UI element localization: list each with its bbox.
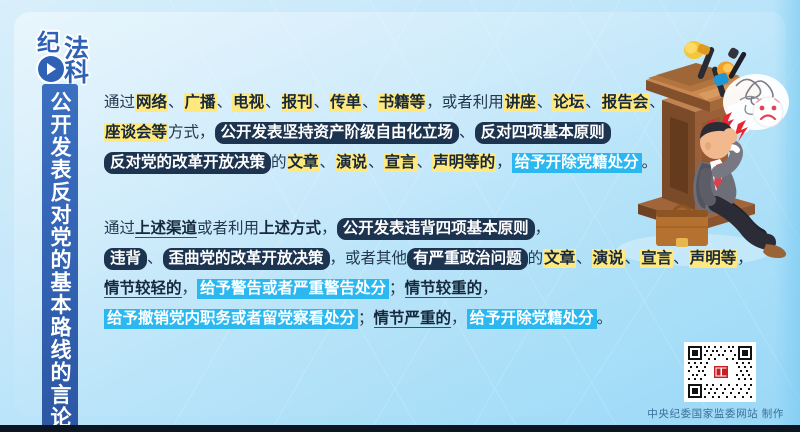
text-segment-plain: 。: [597, 310, 613, 327]
text-segment-plain: ，: [451, 310, 467, 327]
text-segment-underline: 上述渠道: [135, 220, 197, 238]
briefcase-icon: [656, 206, 708, 247]
text-segment-plain: 、: [368, 154, 384, 171]
text-segment-plain: ，: [321, 220, 337, 237]
text-segment-navy: 有严重政治问题: [407, 248, 528, 270]
text-segment-yellow: 宣言: [640, 249, 673, 268]
text-line: 情节较轻的，给予警告或者严重警告处分；情节较重的，: [104, 274, 574, 304]
text-segment-navy: 公开发表坚持资产阶级自由化立场: [215, 122, 460, 144]
text-segment-plain: ；: [389, 280, 405, 297]
text-segment-plain: 、: [585, 94, 601, 111]
text-segment-yellow: 座谈会等: [104, 123, 168, 142]
text-segment-yellow: 电视: [232, 93, 265, 112]
text-segment-navy: 公开发表违背四项基本原则: [337, 218, 535, 240]
paragraph-1: 通过网络、广播、电视、报刊、传单、书籍等，或者利用讲座、论坛、报告会、 座谈会等…: [104, 88, 574, 178]
text-segment-bold: 上述方式: [259, 220, 321, 237]
text-segment-navy: 反对四项基本原则: [475, 122, 611, 144]
text-segment-yellow: 报刊: [281, 93, 314, 112]
text-line: 违背、歪曲党的改革开放决策，或者其他有严重政治问题的文章、演说、宣言、声明等，: [104, 244, 574, 274]
text-segment-plain: 、: [362, 94, 378, 111]
text-segment-cyan: 给予开除党籍处分: [512, 153, 642, 173]
text-segment-plain: ，: [482, 280, 498, 297]
anger-marks-icon: [705, 112, 748, 142]
text-segment-plain: 、: [168, 94, 184, 111]
logo-char-fa: 法: [64, 38, 89, 61]
text-segment-yellow: 书籍等: [378, 93, 427, 112]
text-segment-plain: ，或者利用: [426, 94, 504, 111]
text-segment-yellow: 文章: [287, 153, 320, 172]
text-segment-yellow: 声明等的: [432, 153, 496, 172]
text-line: 反对党的改革开放决策的文章、演说、宣言、声明等的，给予开除党籍处分。: [104, 148, 574, 178]
text-segment-plain: 、: [649, 94, 665, 111]
text-segment-yellow: 演说: [335, 153, 368, 172]
text-segment-cyan: 给予警告或者严重警告处分: [197, 279, 389, 299]
text-segment-plain: ，或者其他: [330, 250, 408, 267]
text-segment-underline: 情节较重的: [405, 280, 483, 298]
text-segment-plain: 通过: [104, 220, 135, 237]
text-segment-plain: 的: [528, 250, 544, 267]
text-segment-plain: 、: [265, 94, 281, 111]
text-line: 座谈会等方式，公开发表坚持资产阶级自由化立场、反对四项基本原则: [104, 118, 574, 148]
brand-logo: 纪 法 科: [36, 30, 92, 86]
text-segment-plain: 的: [271, 154, 287, 171]
text-segment-plain: 、: [459, 124, 475, 141]
text-segment-plain: ，: [496, 154, 512, 171]
text-segment-plain: ，: [535, 220, 551, 237]
text-segment-plain: 、: [537, 94, 553, 111]
text-segment-yellow: 报告会: [601, 93, 650, 112]
text-segment-plain: 、: [625, 250, 641, 267]
text-line: 通过网络、广播、电视、报刊、传单、书籍等，或者利用讲座、论坛、报告会、: [104, 88, 574, 118]
poster-root: 纪 法 科 公开发表反对党的基本路线的言论: [0, 0, 800, 432]
text-segment-yellow: 传单: [329, 93, 362, 112]
vertical-title-text: 公开发表反对党的基本路线的言论: [49, 91, 71, 429]
text-line: 给予撤销党内职务或者留党察看处分；情节严重的，给予开除党籍处分。: [104, 304, 574, 334]
logo-char-ke: 科: [64, 62, 89, 85]
right-edge-shade: [774, 0, 800, 425]
qr-code[interactable]: [684, 342, 756, 402]
text-segment-underline: 情节较轻的: [104, 280, 182, 298]
microphone-icon-1: [684, 41, 715, 80]
text-segment-yellow: 文章: [543, 249, 576, 268]
text-segment-underline: 情节严重的: [374, 310, 452, 328]
text-line: 通过上述渠道或者利用上述方式，公开发表违背四项基本原则，: [104, 214, 574, 244]
text-segment-plain: 、: [673, 250, 689, 267]
logo-char-ji: 纪: [37, 31, 60, 54]
eye-play-icon: [38, 56, 64, 82]
microphone-icon-3: [727, 47, 747, 80]
text-segment-plain: 、: [320, 154, 336, 171]
microphone-icon-2: [711, 62, 735, 99]
regulation-text-content: 通过网络、广播、电视、报刊、传单、书籍等，或者利用讲座、论坛、报告会、 座谈会等…: [104, 88, 574, 334]
distressed-person-icon: [693, 122, 786, 258]
text-segment-yellow: 广播: [184, 93, 217, 112]
text-segment-plain: 、: [576, 250, 592, 267]
text-segment-plain: 、: [314, 94, 330, 111]
paragraph-2: 通过上述渠道或者利用上述方式，公开发表违背四项基本原则， 违背、歪曲党的改革开放…: [104, 214, 574, 334]
text-segment-plain: 、: [217, 94, 233, 111]
text-segment-plain: ，: [182, 280, 198, 297]
text-segment-plain: ，: [737, 250, 753, 267]
text-segment-plain: 方式，: [168, 124, 215, 141]
text-segment-yellow: 论坛: [552, 93, 585, 112]
text-segment-plain: 。: [642, 154, 658, 171]
text-segment-yellow: 网络: [135, 93, 168, 112]
bottom-bar: [0, 425, 800, 432]
footer-credit: 中央纪委国家监委网站 制作: [647, 406, 784, 421]
text-segment-yellow: 声明等: [689, 249, 738, 268]
text-segment-plain: 、: [417, 154, 433, 171]
text-segment-plain: 、: [147, 250, 163, 267]
text-segment-navy: 反对党的改革开放决策: [104, 152, 271, 174]
text-segment-plain: 通过: [104, 94, 135, 111]
text-segment-navy: 违背: [104, 248, 147, 270]
text-segment-yellow: 宣言: [384, 153, 417, 172]
text-segment-yellow: 演说: [592, 249, 625, 268]
text-segment-cyan: 给予撤销党内职务或者留党察看处分: [104, 309, 358, 329]
text-segment-cyan: 给予开除党籍处分: [467, 309, 597, 329]
podium-icon: [638, 63, 762, 232]
text-segment-plain: ；: [358, 310, 374, 327]
text-segment-plain: 或者利用: [197, 220, 259, 237]
vertical-title-banner: 公开发表反对党的基本路线的言论: [42, 84, 78, 429]
thought-bubble-icon: [723, 74, 789, 140]
text-segment-yellow: 讲座: [504, 93, 537, 112]
text-segment-navy: 歪曲党的改革开放决策: [163, 248, 330, 270]
